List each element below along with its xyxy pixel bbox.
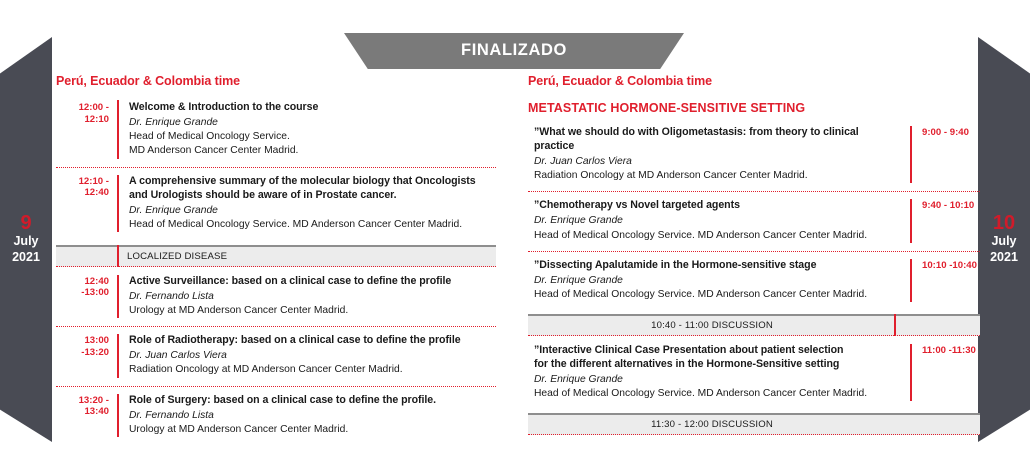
session-rule: [117, 334, 119, 377]
discussion-band-label: 10:40 - 11:00 DISCUSSION: [528, 321, 980, 331]
timezone-header-right: Perú, Ecuador & Colombia time: [528, 74, 980, 88]
date-right-year: 2021: [990, 250, 1018, 266]
session-row: ”Dissecting Apalutamide in the Hormone-s…: [528, 251, 980, 310]
session-title: A comprehensive summary of the molecular…: [129, 175, 496, 189]
session-title: Role of Surgery: based on a clinical cas…: [129, 394, 496, 408]
session-speaker: Dr. Fernando Lista: [129, 409, 496, 423]
session-affiliation: Urology at MD Anderson Cancer Center Mad…: [129, 423, 496, 437]
discussion-band-rule: [894, 314, 896, 336]
session-rule: [910, 259, 912, 302]
session-speaker: Dr. Juan Carlos Viera: [534, 155, 900, 169]
session-body: Role of Surgery: based on a clinical cas…: [129, 394, 496, 437]
session-speaker: Dr. Fernando Lista: [129, 290, 496, 304]
discussion-band-1: 10:40 - 11:00 DISCUSSION: [528, 314, 980, 336]
session-rule: [117, 100, 119, 159]
session-rule: [910, 344, 912, 401]
session-row: 13:20 - 13:40 Role of Surgery: based on …: [56, 386, 496, 445]
session-title: Role of Radiotherapy: based on a clinica…: [129, 334, 496, 348]
session-time: 11:00 -11:30: [922, 344, 994, 401]
session-time: 10:10 -10:40: [922, 259, 994, 302]
status-banner-label: FINALIZADO: [461, 42, 567, 61]
session-body: ”Dissecting Apalutamide in the Hormone-s…: [534, 259, 900, 302]
session-row: ”What we should do with Oligometastasis:…: [528, 126, 980, 191]
session-row: ”Interactive Clinical Case Presentation …: [528, 336, 980, 409]
session-affiliation: Head of Medical Oncology Service. MD And…: [534, 229, 900, 243]
session-row: 12:00 - 12:10 Welcome & Introduction to …: [56, 101, 496, 167]
session-rule: [117, 275, 119, 318]
session-affiliation: Radiation Oncology at MD Anderson Cancer…: [129, 363, 496, 377]
session-speaker: Dr. Enrique Grande: [129, 116, 496, 130]
session-affiliation: Head of Medical Oncology Service. MD And…: [129, 218, 496, 232]
section-band-label: LOCALIZED DISEASE: [56, 252, 227, 262]
session-body: ”Interactive Clinical Case Presentation …: [534, 344, 900, 401]
agenda-page: FINALIZADO 9 July 2021 10 July 2021 Perú…: [0, 0, 1030, 450]
session-speaker: Dr. Enrique Grande: [534, 373, 900, 387]
session-list-right-bottom: ”Interactive Clinical Case Presentation …: [528, 336, 980, 409]
section-band-rule: [117, 245, 119, 267]
section-title-metastatic: METASTATIC HORMONE-SENSITIVE SETTING: [528, 101, 980, 115]
session-rule: [117, 175, 119, 232]
session-row: 13:00 -13:20 Role of Radiotherapy: based…: [56, 326, 496, 385]
session-body: Welcome & Introduction to the course Dr.…: [129, 101, 496, 159]
session-affiliation: Radiation Oncology at MD Anderson Cancer…: [534, 169, 900, 183]
session-title: ”What we should do with Oligometastasis:…: [534, 126, 900, 154]
status-banner: FINALIZADO: [344, 33, 684, 69]
session-row: ”Chemotherapy vs Novel targeted agents D…: [528, 191, 980, 250]
session-affiliation-2: MD Anderson Cancer Center Madrid.: [129, 144, 496, 158]
agenda-column-day10: Perú, Ecuador & Colombia time METASTATIC…: [528, 74, 980, 435]
session-body: ”What we should do with Oligometastasis:…: [534, 126, 900, 183]
session-speaker: Dr. Enrique Grande: [534, 214, 900, 228]
session-list-left-top: 12:00 - 12:10 Welcome & Introduction to …: [56, 101, 496, 240]
session-time: 13:00 -13:20: [56, 334, 117, 377]
session-title-line2: for the different alternatives in the Ho…: [534, 358, 900, 372]
session-list-right-top: ”What we should do with Oligometastasis:…: [528, 126, 980, 310]
session-time: 9:40 - 10:10: [922, 199, 994, 242]
date-left-month: July: [13, 234, 38, 250]
session-affiliation: Head of Medical Oncology Service. MD And…: [534, 387, 900, 401]
session-time: 13:20 - 13:40: [56, 394, 117, 437]
date-left-day: 9: [20, 213, 31, 234]
date-left-year: 2021: [12, 250, 40, 266]
session-title: Welcome & Introduction to the course: [129, 101, 496, 115]
section-band-localized-disease: LOCALIZED DISEASE: [56, 245, 496, 267]
date-right-month: July: [991, 234, 1016, 250]
session-rule: [910, 199, 912, 242]
session-time: 12:10 - 12:40: [56, 175, 117, 232]
timezone-header-left: Perú, Ecuador & Colombia time: [56, 74, 496, 88]
date-right-day: 10: [993, 213, 1015, 234]
session-time: 12:00 - 12:10: [56, 101, 117, 159]
session-speaker: Dr. Enrique Grande: [534, 274, 900, 288]
session-title: ”Interactive Clinical Case Presentation …: [534, 344, 900, 358]
session-row: 12:10 - 12:40 A comprehensive summary of…: [56, 167, 496, 240]
session-affiliation: Head of Medical Oncology Service. MD And…: [534, 288, 900, 302]
session-row: 12:40 -13:00 Active Surveillance: based …: [56, 267, 496, 326]
session-affiliation: Head of Medical Oncology Service.: [129, 130, 496, 144]
session-time: 12:40 -13:00: [56, 275, 117, 318]
session-rule: [117, 394, 119, 437]
status-banner-shape: FINALIZADO: [344, 33, 684, 69]
session-speaker: Dr. Enrique Grande: [129, 204, 496, 218]
session-body: ”Chemotherapy vs Novel targeted agents D…: [534, 199, 900, 242]
session-body: A comprehensive summary of the molecular…: [129, 175, 496, 232]
discussion-band-2: 11:30 - 12:00 DISCUSSION: [528, 413, 980, 435]
session-title: Active Surveillance: based on a clinical…: [129, 275, 496, 289]
session-title: ”Chemotherapy vs Novel targeted agents: [534, 199, 900, 213]
session-body: Role of Radiotherapy: based on a clinica…: [129, 334, 496, 377]
session-affiliation: Urology at MD Anderson Cancer Center Mad…: [129, 304, 496, 318]
session-body: Active Surveillance: based on a clinical…: [129, 275, 496, 318]
date-slab-left: 9 July 2021: [0, 37, 52, 442]
session-title-line2: and Urologists should be aware of in Pro…: [129, 189, 496, 203]
date-slab-left-face: 9 July 2021: [0, 37, 52, 442]
session-title: ”Dissecting Apalutamide in the Hormone-s…: [534, 259, 900, 273]
session-rule: [910, 126, 912, 183]
discussion-band-label: 11:30 - 12:00 DISCUSSION: [528, 420, 980, 430]
session-speaker: Dr. Juan Carlos Viera: [129, 349, 496, 363]
session-list-left-bottom: 12:40 -13:00 Active Surveillance: based …: [56, 267, 496, 445]
session-time: 9:00 - 9:40: [922, 126, 994, 183]
agenda-column-day9: Perú, Ecuador & Colombia time 12:00 - 12…: [56, 74, 496, 445]
